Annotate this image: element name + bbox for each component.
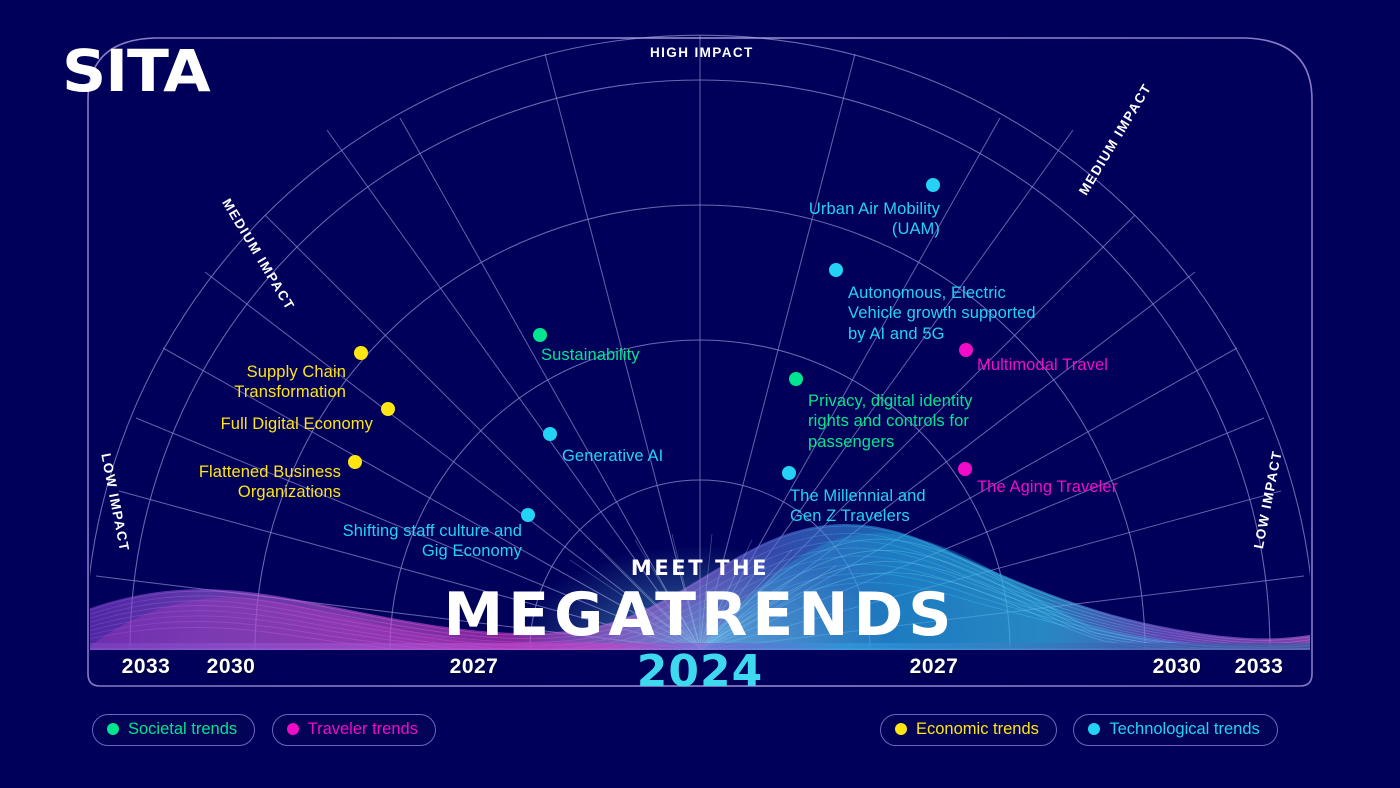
trend-label: The Aging Traveler <box>977 477 1117 497</box>
legend-item-societal[interactable]: Societal trends <box>92 714 255 746</box>
legend-label-economic: Economic trends <box>916 721 1039 738</box>
trend-dot[interactable] <box>533 328 547 342</box>
trend-dot[interactable] <box>521 508 535 522</box>
trend-label: Generative AI <box>562 446 663 466</box>
trend-dot[interactable] <box>789 372 803 386</box>
trend-label: The Millennial and Gen Z Travelers <box>790 486 926 527</box>
year-tick-left-2030: 2030 <box>207 655 256 679</box>
title-megatrends: MEGATRENDS <box>400 583 1000 648</box>
year-tick-right-2030: 2030 <box>1153 655 1202 679</box>
legend-dot-economic <box>895 723 907 735</box>
year-tick-left-2033: 2033 <box>122 655 171 679</box>
legend-dot-traveler <box>287 723 299 735</box>
legend-item-technological[interactable]: Technological trends <box>1073 714 1277 746</box>
trend-dot[interactable] <box>348 455 362 469</box>
legend-item-economic[interactable]: Economic trends <box>880 714 1057 746</box>
center-title-block: MEET THE MEGATRENDS 2024 <box>400 558 1000 694</box>
sita-logo: SITA <box>62 42 210 100</box>
year-tick-right-2033: 2033 <box>1235 655 1284 679</box>
trend-label: Urban Air Mobility (UAM) <box>809 199 940 240</box>
trend-dot[interactable] <box>958 462 972 476</box>
trend-label: Multimodal Travel <box>977 355 1108 375</box>
megatrends-infographic: SITA HIGH IMPACT MEDIUM IMPACT MEDIUM IM… <box>0 0 1400 788</box>
trend-dot[interactable] <box>543 427 557 441</box>
legend-item-traveler[interactable]: Traveler trends <box>272 714 436 746</box>
trend-label: Sustainability <box>541 345 640 365</box>
legend-dot-societal <box>107 723 119 735</box>
trend-label: Flattened Business Organizations <box>199 462 341 503</box>
legend-dot-technological <box>1088 723 1100 735</box>
trend-label: Full Digital Economy <box>221 414 373 434</box>
trend-label: Privacy, digital identity rights and con… <box>808 391 973 452</box>
legend-left-group: Societal trends Traveler trends <box>92 714 436 746</box>
legend-right-group: Economic trends Technological trends <box>880 714 1278 746</box>
title-year: 2024 <box>400 650 1000 694</box>
legend-label-societal: Societal trends <box>128 721 237 738</box>
trend-dot[interactable] <box>959 343 973 357</box>
trend-label: Shifting staff culture and Gig Economy <box>343 521 522 562</box>
trend-dot[interactable] <box>926 178 940 192</box>
trend-dot[interactable] <box>829 263 843 277</box>
legend-label-technological: Technological trends <box>1109 721 1259 738</box>
trend-dot[interactable] <box>381 402 395 416</box>
trend-label: Autonomous, Electric Vehicle growth supp… <box>848 283 1036 344</box>
axis-label-high-impact: HIGH IMPACT <box>650 45 754 60</box>
trend-dot[interactable] <box>782 466 796 480</box>
trend-label: Supply Chain Transformation <box>234 362 346 403</box>
trend-dot[interactable] <box>354 346 368 360</box>
legend-label-traveler: Traveler trends <box>308 721 418 738</box>
